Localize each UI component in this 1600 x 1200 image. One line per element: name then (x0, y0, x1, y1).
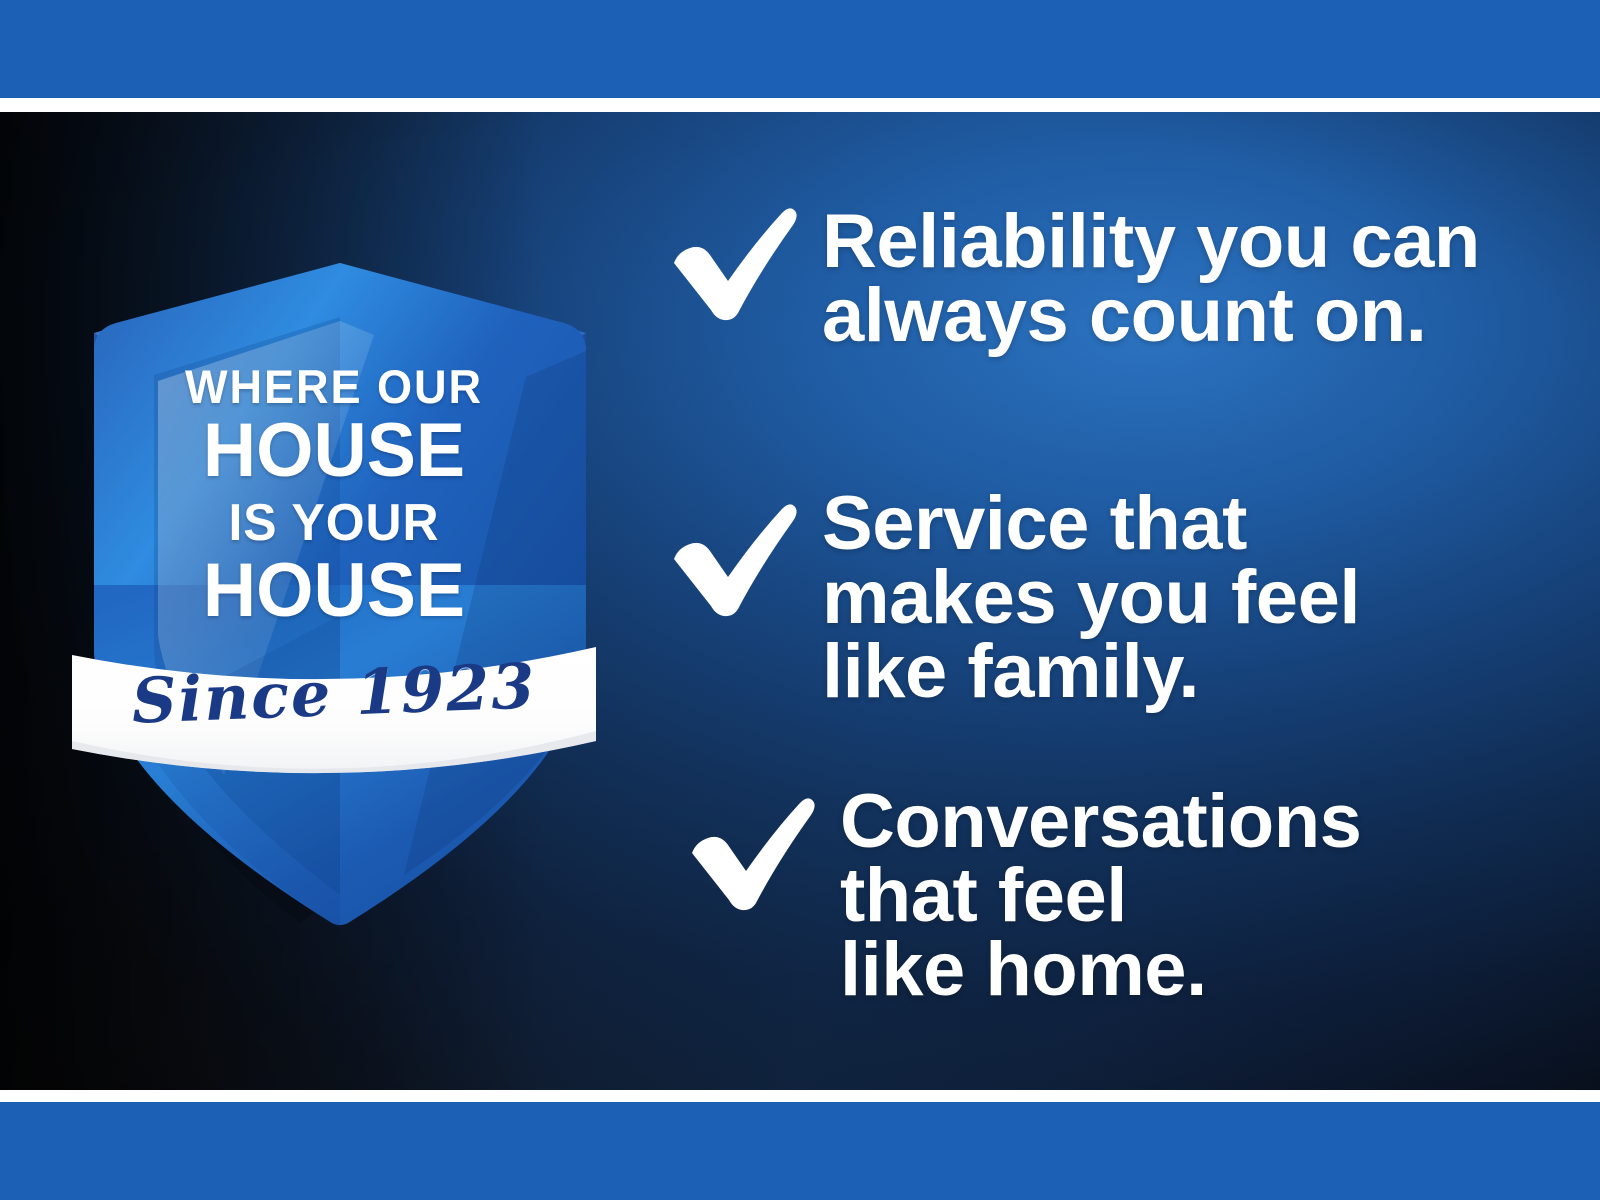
benefit-item-2: Service that makes you feel like family. (668, 473, 1360, 709)
brand-bar-top (0, 0, 1600, 98)
shield-badge: WHERE OUR HOUSE IS YOUR HOUSE Since 1923 (74, 255, 594, 935)
check-icon (668, 205, 798, 323)
promo-graphic: WHERE OUR HOUSE IS YOUR HOUSE Since 1923… (0, 0, 1600, 1200)
brand-bar-bottom (0, 1102, 1600, 1200)
benefit-item-3: Conversations that feel like home. (686, 785, 1361, 1007)
check-icon (686, 795, 816, 913)
benefit-text-3: Conversations that feel like home. (840, 785, 1361, 1007)
benefit-text-1: Reliability you can always count on. (822, 205, 1480, 353)
benefit-text-2: Service that makes you feel like family. (822, 487, 1360, 709)
benefit-item-1: Reliability you can always count on. (668, 205, 1480, 353)
check-icon (668, 501, 798, 619)
